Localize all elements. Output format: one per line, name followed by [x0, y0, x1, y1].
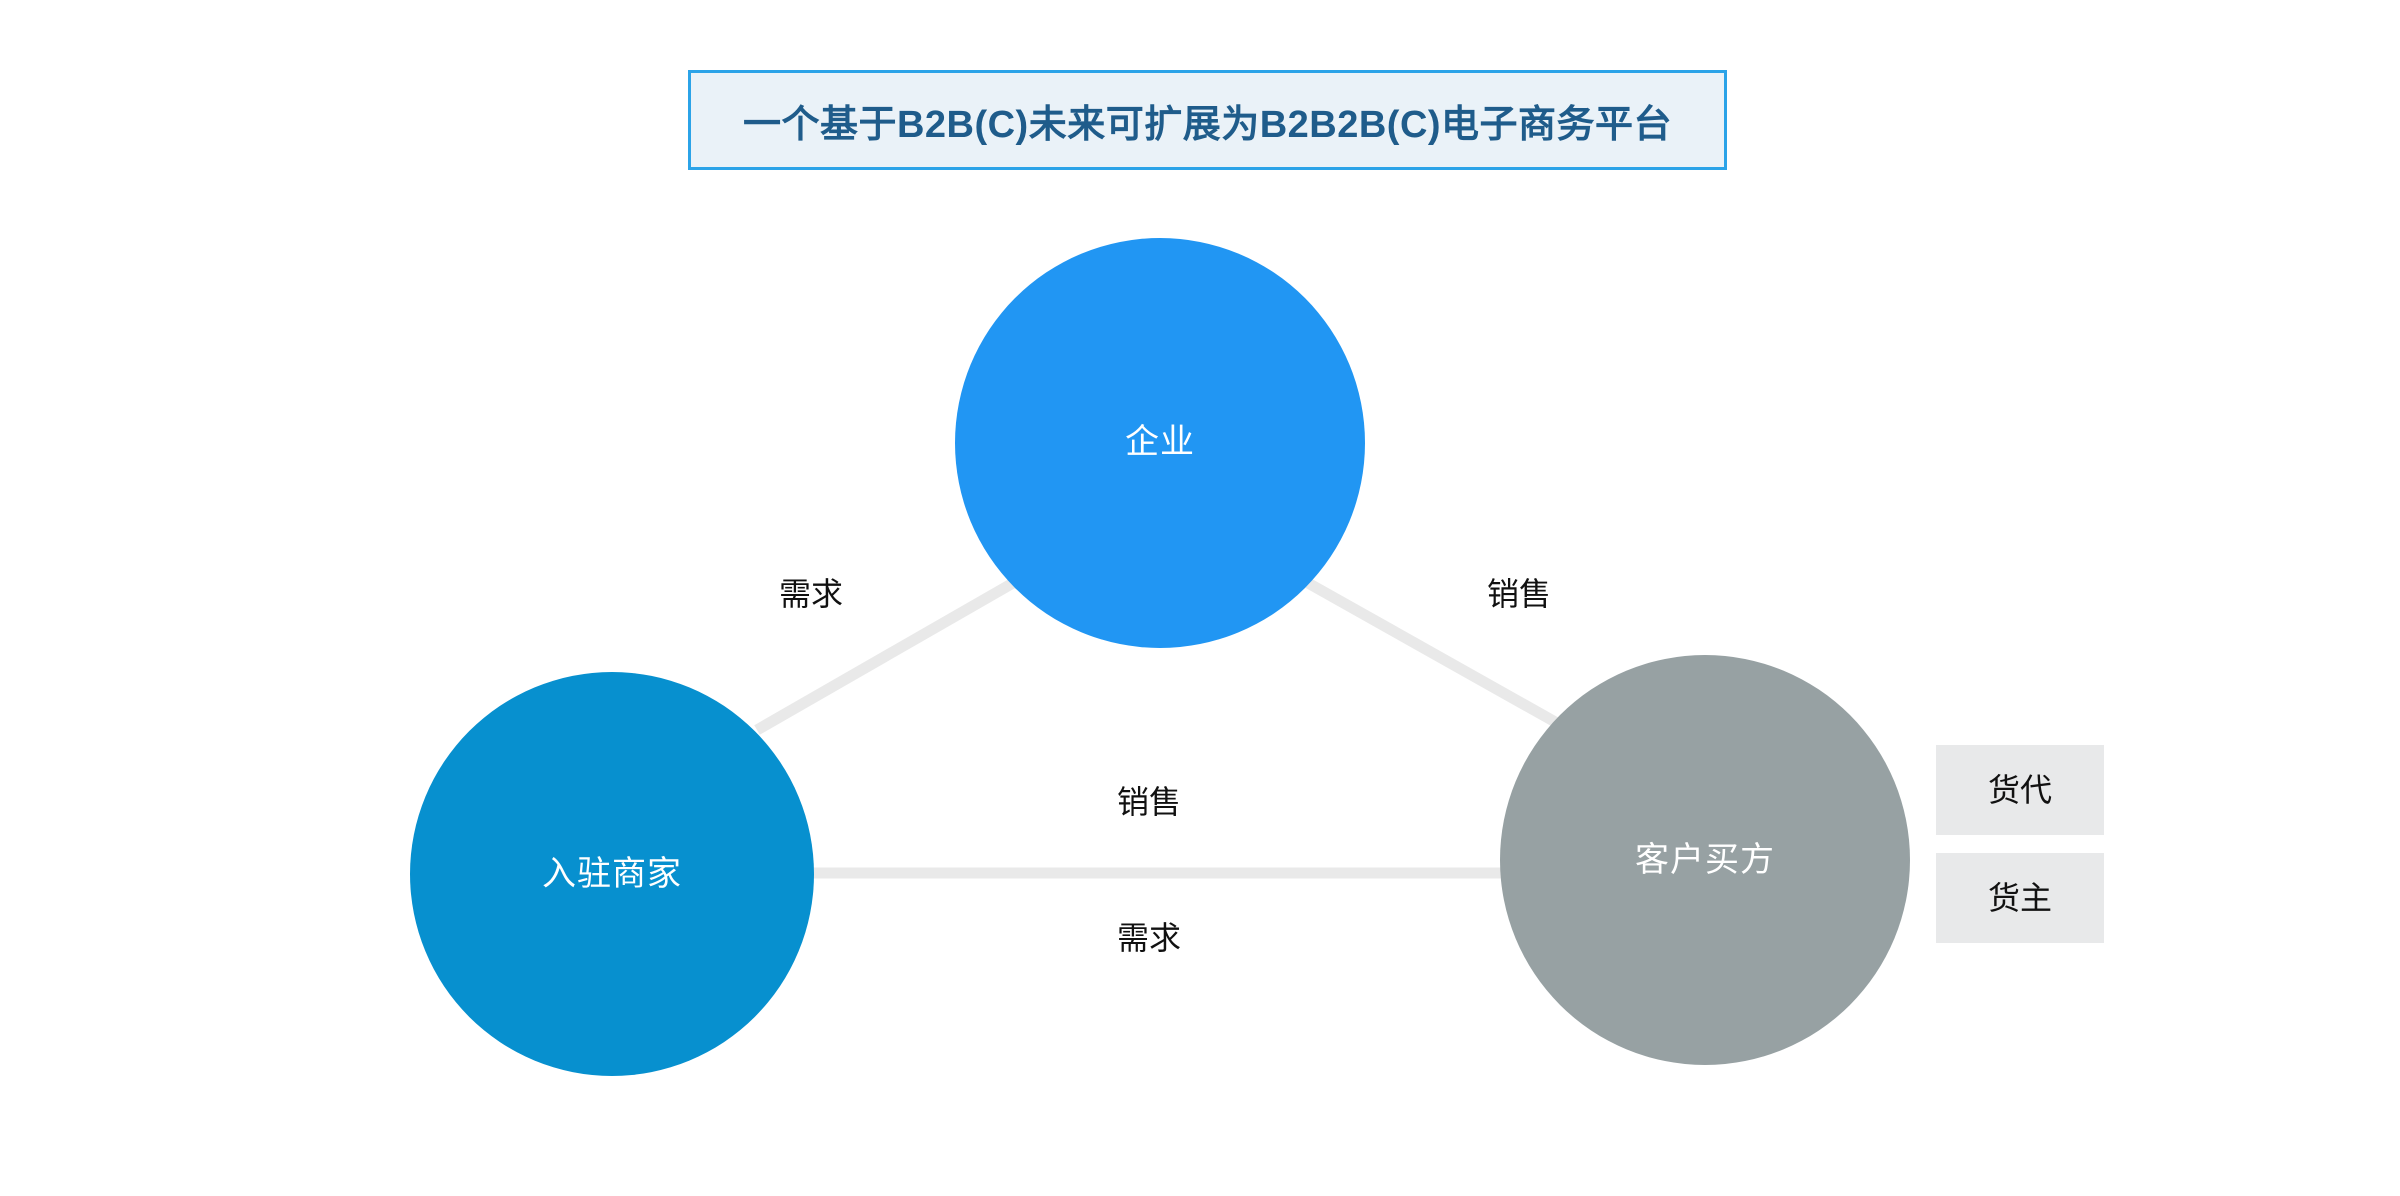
- node-buyer-label: 客户买方: [1635, 843, 1775, 877]
- edge-label-merchant-enterprise: 需求: [779, 578, 843, 610]
- tag-cargo-owner[interactable]: 货主: [1936, 853, 2104, 943]
- node-buyer[interactable]: 客户买方: [1500, 655, 1910, 1065]
- edge-label-merchant-buyer-sales: 销售: [1117, 786, 1181, 818]
- node-merchant[interactable]: 入驻商家: [410, 672, 814, 1076]
- diagram-canvas: 一个基于B2B(C)未来可扩展为B2B2B(C)电子商务平台 企业 入驻商家 客…: [0, 0, 2400, 1196]
- node-merchant-label: 入驻商家: [542, 857, 682, 891]
- tag-freight-forwarder-label: 货代: [1988, 774, 2052, 806]
- tag-cargo-owner-label: 货主: [1988, 882, 2052, 914]
- node-enterprise-label: 企业: [1125, 425, 1195, 459]
- node-enterprise[interactable]: 企业: [955, 238, 1365, 648]
- edge-label-merchant-buyer-demand: 需求: [1117, 922, 1181, 954]
- tag-freight-forwarder[interactable]: 货代: [1936, 745, 2104, 835]
- edge-label-enterprise-buyer: 销售: [1487, 578, 1551, 610]
